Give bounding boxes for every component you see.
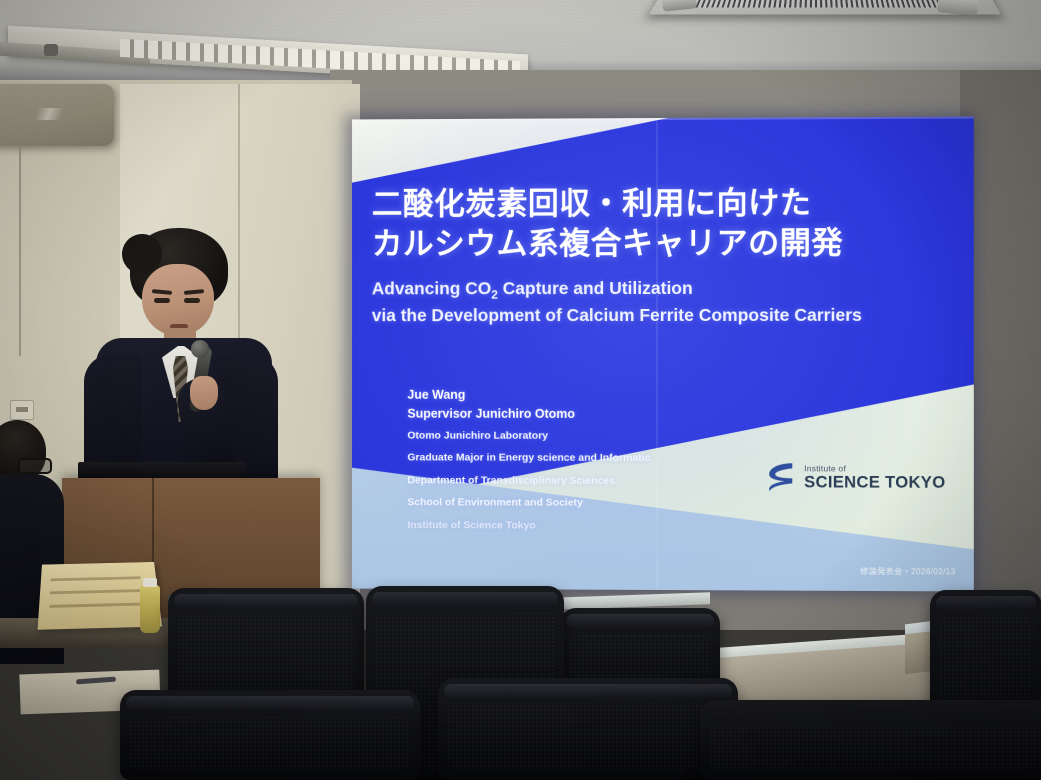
slide-footer-text: 修論発表会・2026/02/13 [860,566,955,577]
logo-sub-label: Institute of [804,464,945,473]
slide-title-ja-line2: カルシウム系複合キャリアの開発 [372,223,972,265]
chair-top-rail [174,594,358,608]
slide-title-english: Advancing CO2 Capture and Utilization vi… [372,276,972,328]
presenter-eye-left [154,298,170,303]
science-tokyo-s-mark-icon [766,460,796,494]
logo-main-label: SCIENCE TOKYO [804,474,945,491]
office-chair [700,700,1041,780]
speaker-logo-icon [34,108,64,120]
ac-grille-icon [685,0,945,7]
institute-logo: Institute of SCIENCE TOKYO [766,460,946,495]
wall-outlet-icon [10,400,34,420]
drink-bottle [140,585,160,633]
chair-mesh [709,726,1041,770]
chair-top-rail [126,696,414,710]
presentation-room-screenshot: 二酸化炭素回収・利用に向けた カルシウム系複合キャリアの開発 Advancing… [0,0,1041,780]
author-name: Jue Wang [407,386,806,406]
bottle-cap [143,578,157,587]
attendee-glasses-icon [18,458,52,474]
slide-title-ja-line1: 二酸化炭素回収・利用に向けた [372,183,972,225]
paper-line [51,576,141,581]
office-chair [438,678,738,780]
affiliation-line: Institute of Science Tokyo [407,514,806,538]
title-en-pre: Advancing CO [372,278,491,298]
slide-title-en-line2: via the Development of Calcium Ferrite C… [372,303,972,328]
projected-slide: 二酸化炭素回収・利用に向けた カルシウム系複合キャリアの開発 Advancing… [352,117,974,592]
presenter-hand [190,376,218,410]
chair-top-rail [444,684,732,698]
office-chair [120,690,420,780]
affiliation-line: School of Environment and Society [407,492,806,516]
wall-conduit [19,146,21,356]
chair-mesh [129,716,411,770]
chair-backrest [120,690,420,780]
slide-title-japanese: 二酸化炭素回収・利用に向けた カルシウム系複合キャリアの開発 [372,183,972,265]
chair-top-rail [372,592,558,606]
paper-line [49,603,143,608]
slide-title-en-line1: Advancing CO2 Capture and Utilization [372,276,972,304]
chair-backrest [700,700,1041,780]
chair-top-rail [936,596,1036,610]
affiliation-line: Graduate Major in Energy science and Inf… [407,447,806,470]
chair-mesh [447,704,729,770]
title-en-post: Capture and Utilization [498,278,693,298]
affiliation-line: Department of Transdisciplinary Sciences [407,469,806,493]
paper-line [50,589,142,594]
presenter-eye-right [184,298,200,303]
supervisor-name: Supervisor Junichiro Otomo [407,405,806,425]
microphone-head-icon [191,340,209,358]
slide-author-block: Jue Wang Supervisor Junichiro Otomo Otom… [407,386,806,538]
chair-top-rail [566,614,714,628]
chair-backrest [438,678,738,780]
logo-text: Institute of SCIENCE TOKYO [804,464,945,491]
rail-mount-bolt [44,44,58,56]
affiliation-line: Otomo Junichiro Laboratory [407,424,806,447]
